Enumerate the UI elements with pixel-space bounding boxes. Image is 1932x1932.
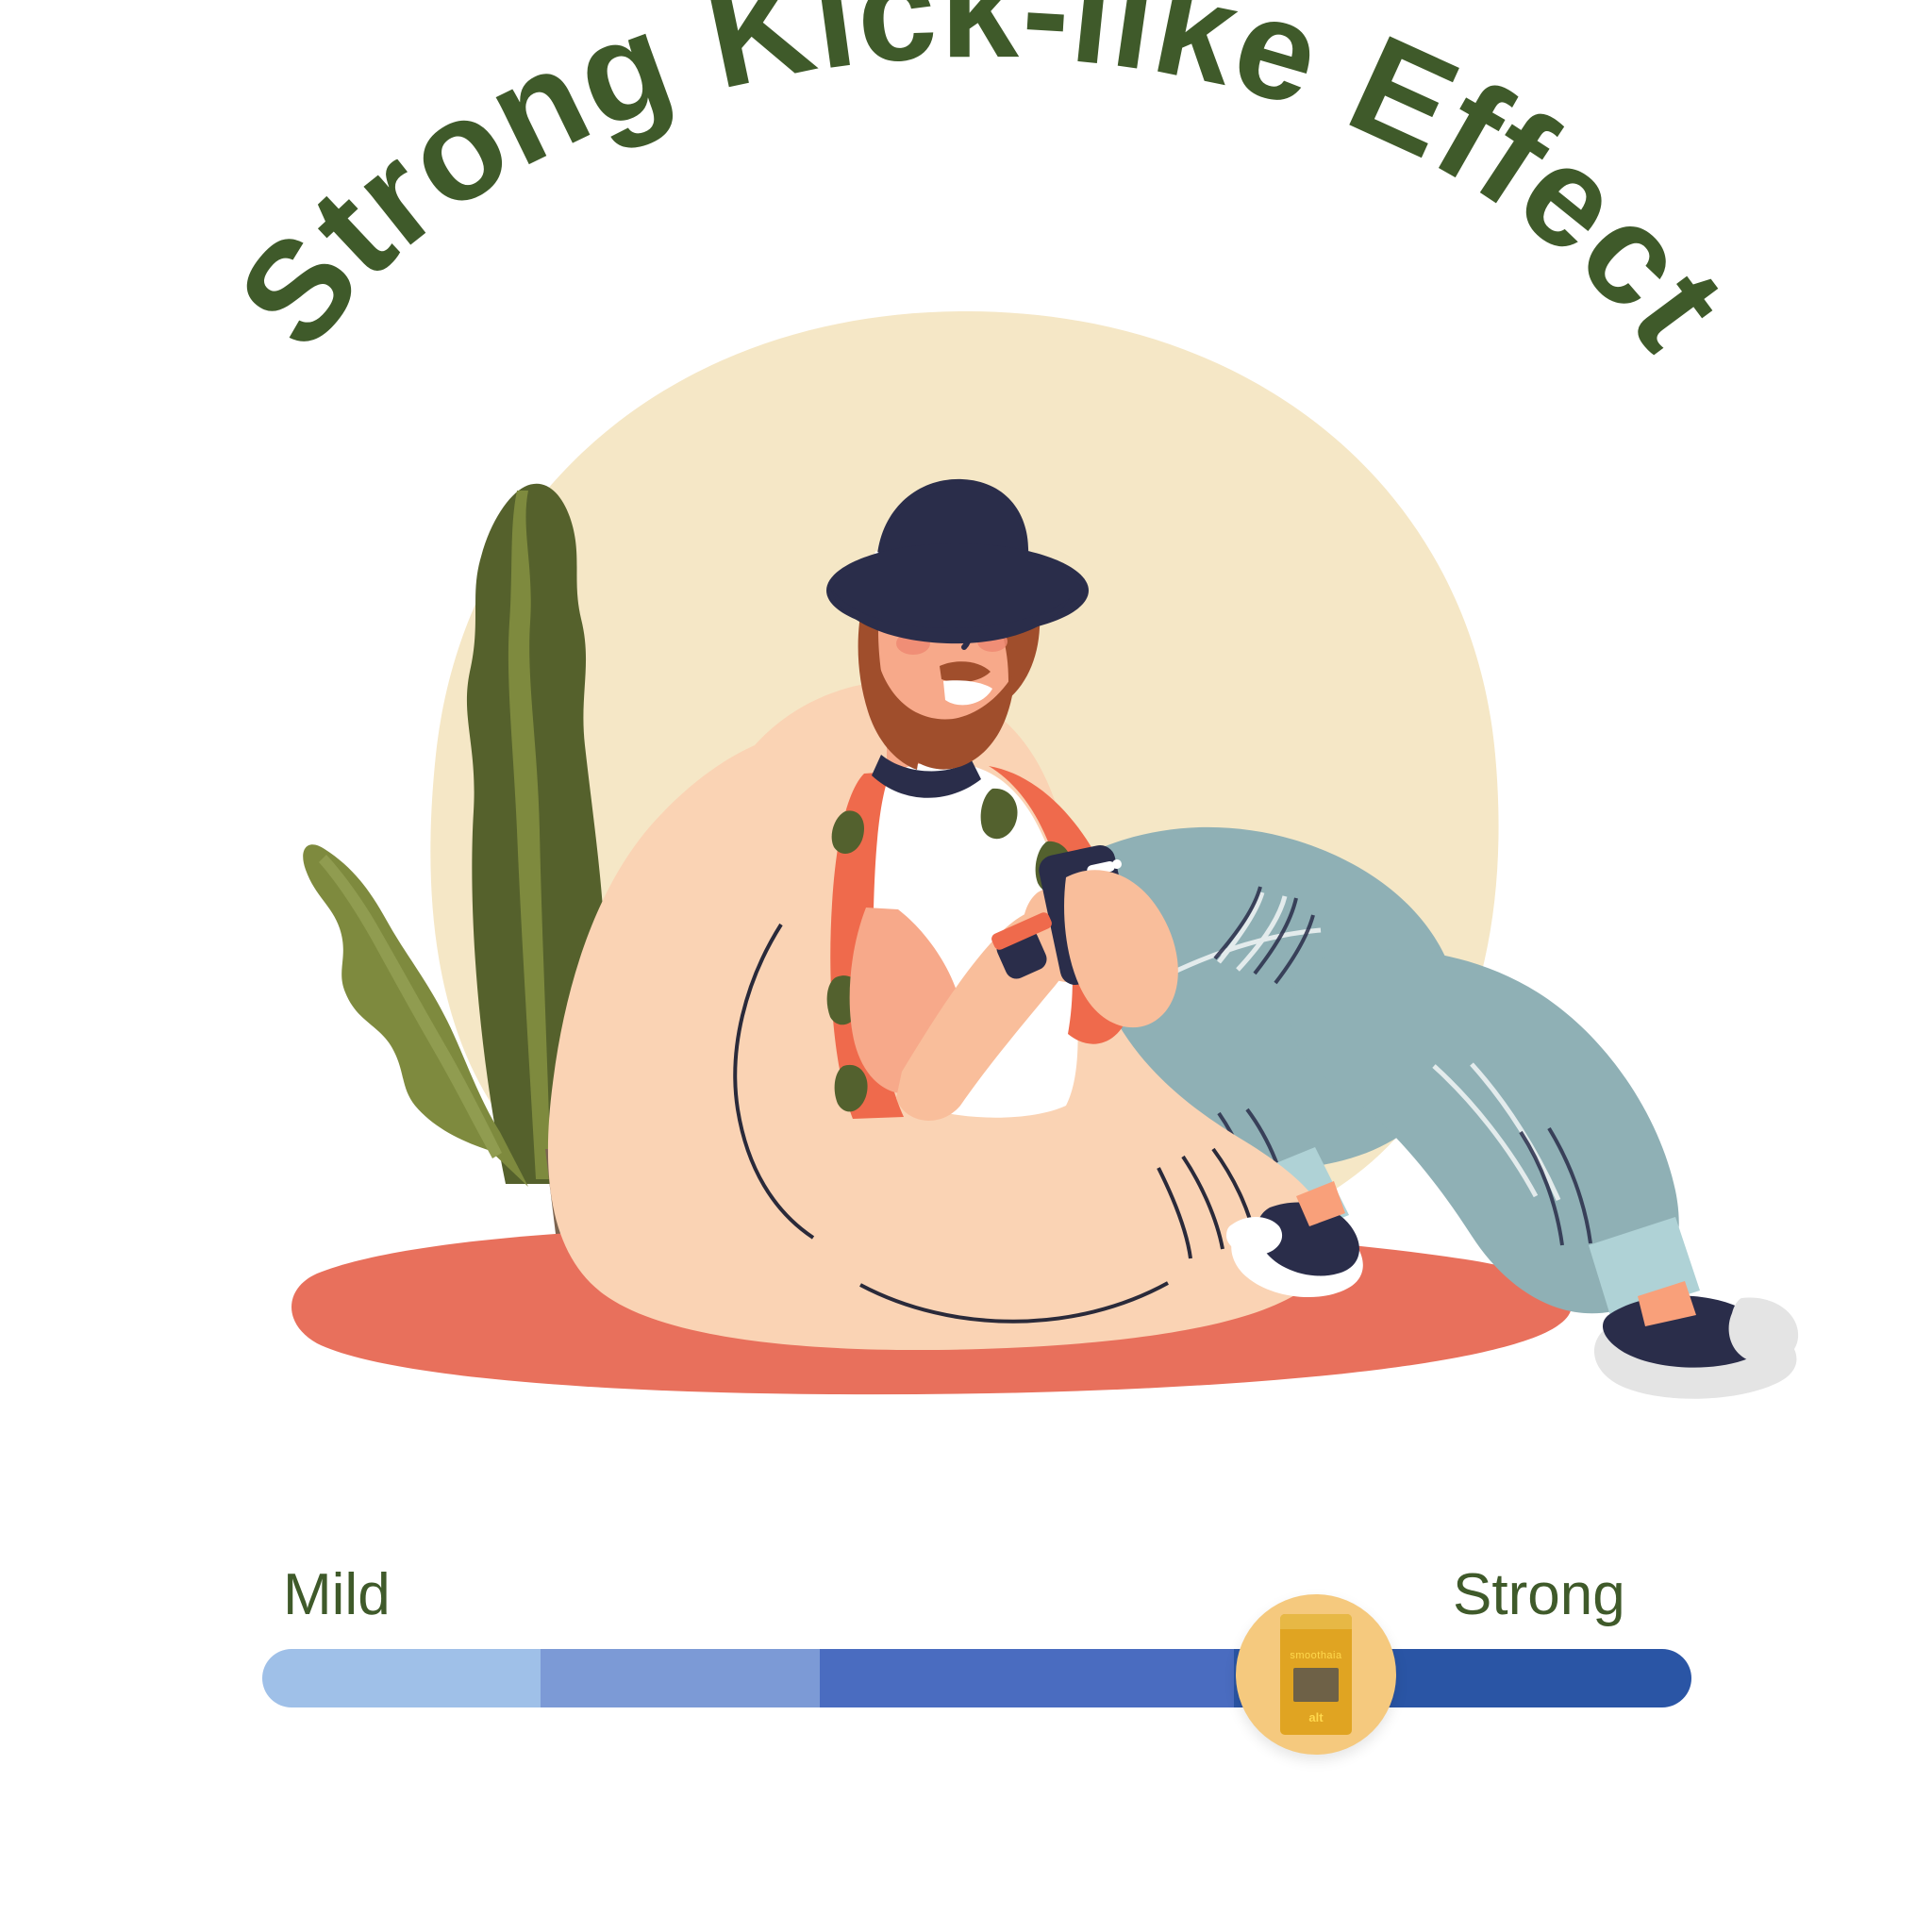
pouch-footer-text: alt [1308, 1710, 1323, 1724]
track-segment-1 [262, 1649, 541, 1707]
illustration-man-relaxing [0, 0, 1932, 1472]
scale-label-mild: Mild [283, 1561, 391, 1628]
pouch-brand-text: smoothaia [1290, 1650, 1341, 1661]
track-segment-3 [820, 1649, 1234, 1707]
pouch-zipper [1280, 1614, 1352, 1629]
track-segment-2 [541, 1649, 819, 1707]
strength-track[interactable] [262, 1649, 1691, 1707]
product-pouch-icon: smoothaia alt [1280, 1614, 1352, 1735]
strength-slider-knob[interactable]: smoothaia alt [1236, 1594, 1396, 1755]
scale-label-strong: Strong [1453, 1561, 1625, 1628]
pouch-window [1293, 1668, 1340, 1702]
poster-canvas: Strong Kick-like Effect [0, 0, 1932, 1932]
sneaker-far-heel [1729, 1297, 1799, 1362]
